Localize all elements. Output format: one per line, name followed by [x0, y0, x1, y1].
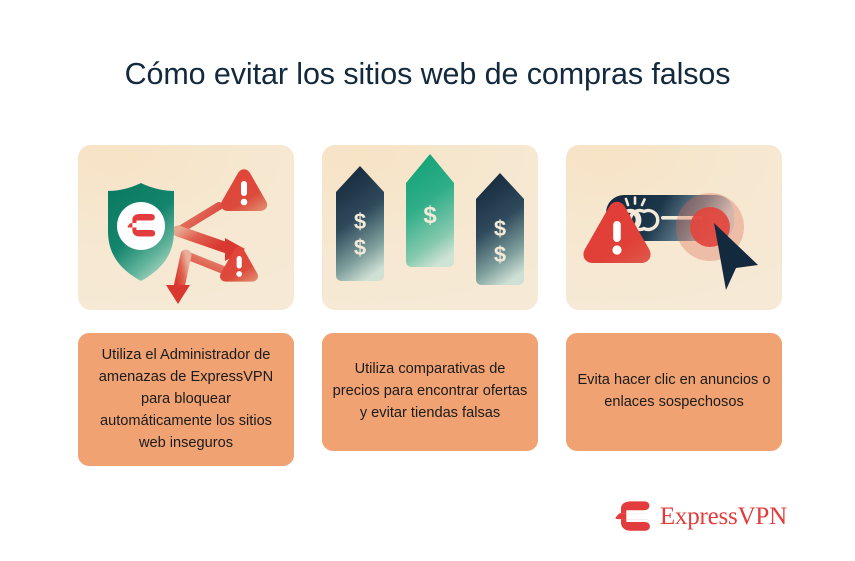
dollar-sign: $: [354, 209, 366, 234]
page-title: Cómo evitar los sitios web de compras fa…: [0, 56, 855, 93]
expressvpn-wordmark: ExpressVPN: [660, 504, 787, 529]
infographic-page: Cómo evitar los sitios web de compras fa…: [0, 0, 855, 561]
price-tag-green-center: $: [406, 154, 454, 267]
card-suspicious-links: Evita hacer clic en anuncios o enlaces s…: [566, 145, 782, 466]
expressvpn-logo-mark: [615, 501, 651, 531]
dollar-sign: $: [423, 202, 437, 229]
shield-blocking-threats-illustration: [78, 145, 294, 310]
cards-row: Utiliza el Administrador de amenazas de …: [78, 145, 782, 466]
dollar-sign: $: [354, 235, 366, 260]
dollar-sign: $: [494, 216, 506, 241]
price-tags-comparison-illustration: $ $ $ $ $: [322, 145, 538, 310]
price-tag-navy-left: $ $: [336, 166, 384, 281]
expressvpn-footer-logo: ExpressVPN: [615, 501, 787, 531]
dollar-sign: $: [494, 242, 506, 267]
card-caption: Utiliza el Administrador de amenazas de …: [78, 333, 294, 466]
warning-triangle-icon-upper: [221, 169, 267, 211]
card-threat-manager: Utiliza el Administrador de amenazas de …: [78, 145, 294, 466]
deflected-arrow-lower: [166, 255, 226, 304]
card-caption-text: Utiliza comparativas de precios para enc…: [332, 359, 528, 425]
broken-link-click-warning-illustration: [566, 145, 782, 310]
card-caption-text: Evita hacer clic en anuncios o enlaces s…: [576, 370, 772, 414]
card-caption: Evita hacer clic en anuncios o enlaces s…: [566, 333, 782, 451]
card-caption-text: Utiliza el Administrador de amenazas de …: [88, 345, 284, 454]
shield-icon: [108, 183, 174, 281]
card-caption: Utiliza comparativas de precios para enc…: [322, 333, 538, 451]
price-tag-navy-right: $ $: [476, 173, 524, 285]
card-price-comparison: $ $ $ $ $: [322, 145, 538, 466]
